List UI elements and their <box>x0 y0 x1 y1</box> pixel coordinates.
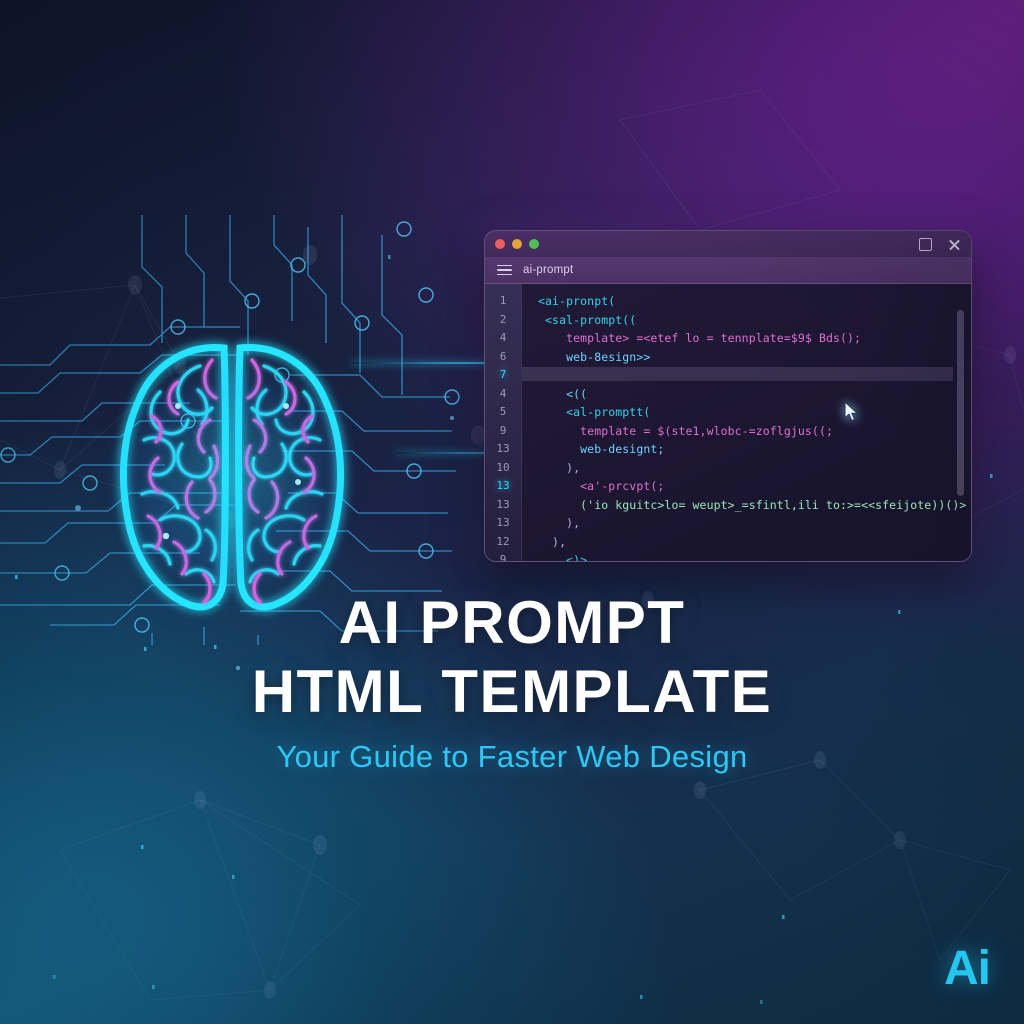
poster-canvas: ai-prompt 1 2 4 6 7 4 5 9 13 10 13 13 13… <box>0 0 1024 1024</box>
hero-text-block: AI PROMPT HTML TEMPLATE Your Guide to Fa… <box>0 592 1024 775</box>
page-title-line2: HTML TEMPLATE <box>0 661 1024 722</box>
vignette-overlay <box>0 0 1024 1024</box>
page-subtitle: Your Guide to Faster Web Design <box>0 739 1024 775</box>
brand-logo-ai: Ai <box>944 941 990 996</box>
page-title-line1: AI PROMPT <box>0 592 1024 653</box>
